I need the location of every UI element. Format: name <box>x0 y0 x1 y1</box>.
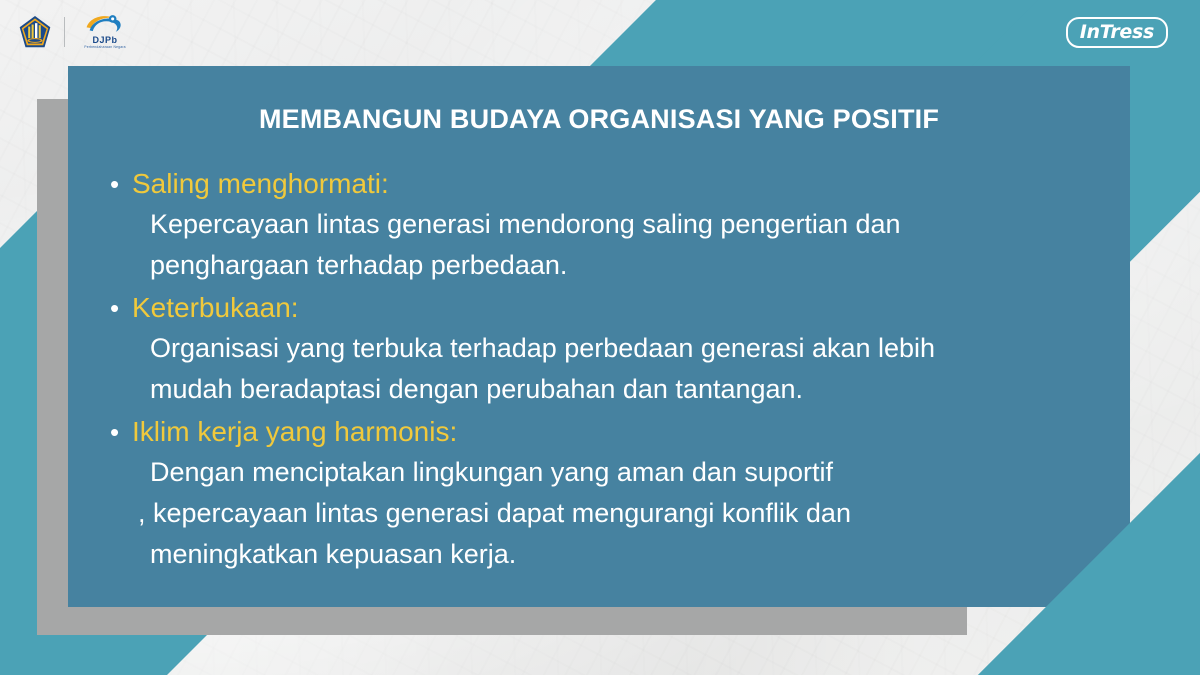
bullet-heading: Saling menghormati: <box>132 164 389 204</box>
slide-canvas: DJPb Perbendaharaan Negara InTress MEMBA… <box>0 0 1200 675</box>
bullet-body: Organisasi yang terbuka terhadap perbeda… <box>150 328 1102 410</box>
bullet-heading: Iklim kerja yang harmonis: <box>132 412 457 452</box>
bullet-list: • Saling menghormati: Kepercayaan lintas… <box>106 164 1102 577</box>
bullet-body: Kepercayaan lintas generasi mendorong sa… <box>150 204 1102 286</box>
bullet-dot-icon: • <box>106 288 132 328</box>
bullet-heading-row: • Iklim kerja yang harmonis: <box>106 412 1102 452</box>
logo-lockup: DJPb Perbendaharaan Negara <box>18 10 133 54</box>
bullet-body-line: mudah beradaptasi dengan perubahan dan t… <box>150 369 1102 410</box>
djpb-subtext: Perbendaharaan Negara <box>77 45 133 51</box>
bullet-body-line: Organisasi yang terbuka terhadap perbeda… <box>150 328 1102 369</box>
kemenkeu-logo-icon <box>18 15 52 49</box>
bullet-body: Dengan menciptakan lingkungan yang aman … <box>150 452 1102 575</box>
djpb-wordmark: DJPb <box>77 36 133 45</box>
list-item: • Iklim kerja yang harmonis: Dengan menc… <box>106 412 1102 575</box>
intress-logo-badge: InTress <box>1066 17 1168 48</box>
list-item: • Saling menghormati: Kepercayaan lintas… <box>106 164 1102 286</box>
bullet-body-line: Dengan menciptakan lingkungan yang aman … <box>150 452 1102 493</box>
page-title: MEMBANGUN BUDAYA ORGANISASI YANG POSITIF <box>68 104 1130 135</box>
bullet-heading: Keterbukaan: <box>132 288 299 328</box>
bullet-body-line: Kepercayaan lintas generasi mendorong sa… <box>150 204 1102 245</box>
list-item: • Keterbukaan: Organisasi yang terbuka t… <box>106 288 1102 410</box>
bullet-heading-row: • Saling menghormati: <box>106 164 1102 204</box>
bullet-body-line: meningkatkan kepuasan kerja. <box>150 534 1102 575</box>
bullet-heading-row: • Keterbukaan: <box>106 288 1102 328</box>
bullet-body-line: , kepercayaan lintas generasi dapat meng… <box>138 493 1102 534</box>
content-panel: MEMBANGUN BUDAYA ORGANISASI YANG POSITIF… <box>68 66 1130 607</box>
bullet-dot-icon: • <box>106 412 132 452</box>
bullet-body-line: penghargaan terhadap perbedaan. <box>150 245 1102 286</box>
bullet-dot-icon: • <box>106 164 132 204</box>
logo-divider <box>64 17 65 47</box>
djpb-logo: DJPb Perbendaharaan Negara <box>77 12 133 52</box>
djpb-swoosh-icon <box>82 12 128 35</box>
